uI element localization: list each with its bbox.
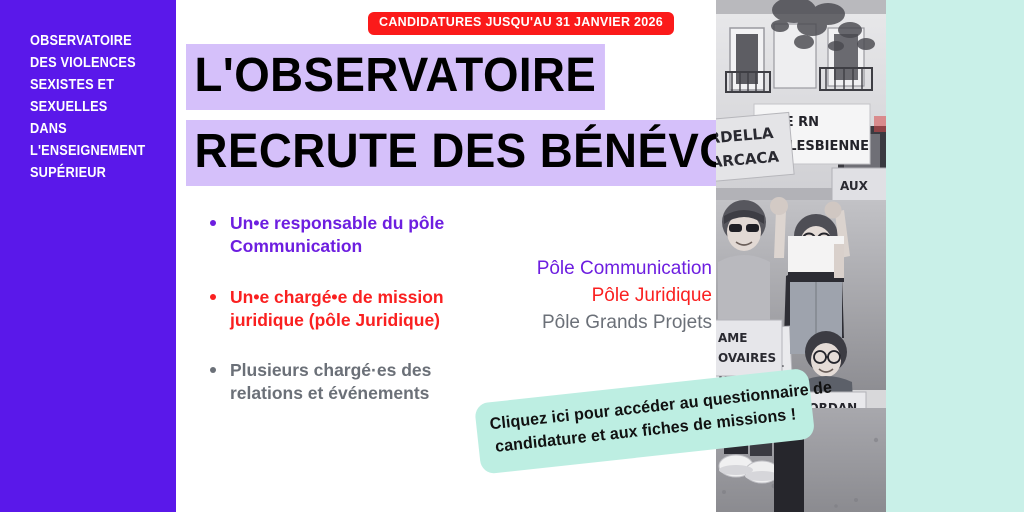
bullet-dot-icon <box>210 294 216 300</box>
organization-sidebar: OBSERVATOIRE DES VIOLENCES SEXISTES ET S… <box>0 0 176 512</box>
poles-list: Pôle Communication Pôle Juridique Pôle G… <box>537 256 712 337</box>
bullet-dot-icon <box>210 367 216 373</box>
deadline-badge: CANDIDATURES JUSQU'AU 31 JANVIER 2026 <box>368 12 674 35</box>
organization-name: OBSERVATOIRE DES VIOLENCES SEXISTES ET S… <box>30 30 146 184</box>
pole-grands-projets: Pôle Grands Projets <box>537 310 712 337</box>
position-label: Plusieurs chargé·es des relations et évé… <box>230 360 431 403</box>
open-positions-list: Un•e responsable du pôle Communication U… <box>202 212 487 406</box>
poster-canvas: OBSERVATOIRE DES VIOLENCES SEXISTES ET S… <box>0 0 1024 512</box>
mint-accent-strip <box>886 0 1024 512</box>
position-label: Un•e responsable du pôle Communication <box>230 213 444 256</box>
svg-text:AUX: AUX <box>840 179 869 193</box>
pole-communication: Pôle Communication <box>537 256 712 283</box>
list-item: Un•e responsable du pôle Communication <box>202 212 487 259</box>
list-item: Un•e chargé•e de mission juridique (pôle… <box>202 286 487 333</box>
headline-line-1: L'OBSERVATOIRE <box>186 44 605 110</box>
svg-text:OVAIRES: OVAIRES <box>718 351 776 365</box>
pole-juridique: Pôle Juridique <box>537 283 712 310</box>
position-label: Un•e chargé•e de mission juridique (pôle… <box>230 287 444 330</box>
list-item: Plusieurs chargé·es des relations et évé… <box>202 359 487 406</box>
svg-text:AME: AME <box>718 331 747 345</box>
bullet-dot-icon <box>210 220 216 226</box>
